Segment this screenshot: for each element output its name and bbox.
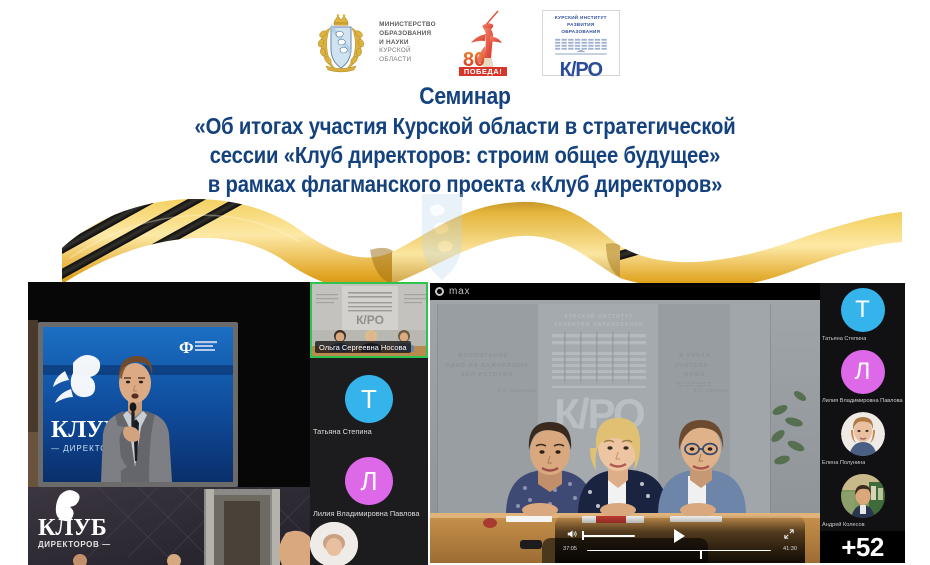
seminar-title: Семинар «Об итогах участия Курской облас… [0, 82, 930, 199]
kursk-coat-watermark-icon [392, 192, 492, 284]
st-george-ribbon-band [0, 192, 930, 284]
wall-author-left: К.Д. Ушинский [438, 388, 536, 394]
speaker-icon[interactable] [567, 529, 578, 539]
total-time-label: 41:30 [783, 546, 797, 552]
banner-directors-text: ДИРЕКТОРОВ — [38, 540, 111, 549]
volume-slider-handle[interactable] [582, 531, 584, 540]
fullscreen-icon[interactable] [784, 529, 794, 539]
participant-tile-tatyana[interactable]: Т Татьяна Степина [310, 358, 428, 440]
avatar-photo [310, 522, 358, 565]
volume-slider[interactable] [583, 535, 635, 537]
max-logo-text: max [449, 286, 470, 297]
kiro-top-line-2: РАЗВИТИЯ ОБРАЗОВАНИЯ [548, 22, 614, 36]
kiro-wordmark: К/РО [548, 60, 614, 80]
participant-tile-andrey[interactable]: Андрей Колесов [820, 469, 905, 531]
participant-tile-liliya[interactable]: Л Лилия Владимировна Павлова [310, 440, 428, 522]
ministry-line-4: КУРСКОЙ [379, 47, 436, 56]
wall-quote-left: ВОСПИТАНИЕ – ОДНО ИЗ ВАЖНЕЙШИХ ДЕЛ ИСТОР… [438, 352, 536, 381]
avatar-initial: Л [841, 350, 885, 394]
kiro-logo: КУРСКИЙ ИНСТИТУТ РАЗВИТИЯ ОБРАЗОВАНИЯ [542, 10, 620, 76]
wall-rule-left [450, 384, 528, 385]
avatar-initial: Т [841, 288, 885, 332]
participant-name: Андрей Колесов [822, 522, 865, 528]
kiro-top-line-1: КУРСКИЙ ИНСТИТУТ [548, 15, 614, 22]
victory-word: ПОБЕДА! [464, 67, 502, 76]
max-ring-icon [435, 287, 444, 296]
participant-name: Татьяна Степина [822, 336, 866, 342]
avatar-initial: Т [345, 375, 393, 423]
video-player-controls[interactable]: 37:05 41:30 [555, 515, 805, 563]
backdrop-f-mark: Ф [179, 338, 194, 357]
avatar-photo [841, 412, 885, 456]
active-speaker-name: Ольга Сергеевна Носова [315, 341, 411, 353]
right-participant-sidebar[interactable]: Т Татьяна Степина Л Лилия Владимировна П… [820, 283, 905, 563]
participant-tile-partial[interactable] [310, 522, 428, 565]
right-video-panel[interactable]: max [430, 283, 905, 563]
ministry-logo: МИНИСТЕРСТВО ОБРАЗОВАНИЯ И НАУКИ КУРСКОЙ… [310, 12, 436, 74]
participant-tile-tatyana[interactable]: Т Татьяна Степина [820, 283, 905, 345]
progress-track[interactable] [587, 550, 771, 552]
club-directors-banner: КЛУБ ДИРЕКТОРОВ — [28, 487, 310, 565]
participant-name: Лилия Владимировна Павлова [313, 509, 420, 518]
svg-text:К/РО: К/РО [356, 313, 384, 327]
kiro-wall-line-2: РАЗВИТИЯ ОБРАЗОВАНИЯ [550, 321, 648, 330]
motherland-calls-statue-icon: 80 ПОБЕДА! [454, 10, 524, 76]
progress-handle[interactable] [700, 551, 702, 559]
banner-club-text: КЛУБ [38, 515, 107, 541]
avatar-initial: Л [345, 457, 393, 505]
victory-80-logo: 80 ПОБЕДА! [454, 10, 524, 76]
active-speaker-thumbnail[interactable]: К/РО [310, 282, 428, 358]
participant-name: Татьяна Степина [313, 427, 372, 436]
ministry-line-1: МИНИСТЕРСТВО [379, 21, 436, 30]
ministry-line-2: ОБРАЗОВАНИЯ [379, 30, 436, 39]
more-participants-badge[interactable]: +52 [820, 531, 905, 563]
presentation-screen: КЛУБ — ДИРЕКТОРОВ Ф [38, 322, 238, 487]
title-line-1: Семинар [56, 82, 874, 112]
play-icon[interactable] [674, 529, 685, 543]
wall-author-right: Д.С. Лихачев [662, 388, 728, 394]
participant-tile-elena[interactable]: Елена Полунина [820, 407, 905, 469]
title-line-3: сессии «Клуб директоров: строим общее бу… [56, 141, 874, 170]
left-video-panel[interactable]: КЛУБ — ДИРЕКТОРОВ Ф [28, 282, 428, 565]
kursk-coat-of-arms-icon [310, 12, 372, 74]
participant-name: Елена Полунина [822, 460, 865, 466]
avatar-photo [841, 474, 885, 518]
wall-rule-right [668, 384, 724, 385]
participant-tile-liliya[interactable]: Л Лилия Владимировна Павлова [820, 345, 905, 407]
institute-building-icon [548, 38, 614, 58]
left-main-stage[interactable]: КЛУБ — ДИРЕКТОРОВ Ф [28, 282, 310, 565]
ministry-line-5: ОБЛАСТИ [379, 56, 436, 65]
current-time-label: 37:05 [563, 546, 577, 552]
ministry-logo-text: МИНИСТЕРСТВО ОБРАЗОВАНИЯ И НАУКИ КУРСКОЙ… [379, 21, 436, 65]
left-participant-sidebar[interactable]: К/РО [310, 282, 428, 565]
title-line-2: «Об итогах участия Курской области в стр… [56, 112, 874, 141]
max-app-logo: max [430, 283, 820, 300]
logo-strip: МИНИСТЕРСТВО ОБРАЗОВАНИЯ И НАУКИ КУРСКОЙ… [0, 8, 930, 78]
participant-name: Лилия Владимировна Павлова [822, 398, 903, 404]
